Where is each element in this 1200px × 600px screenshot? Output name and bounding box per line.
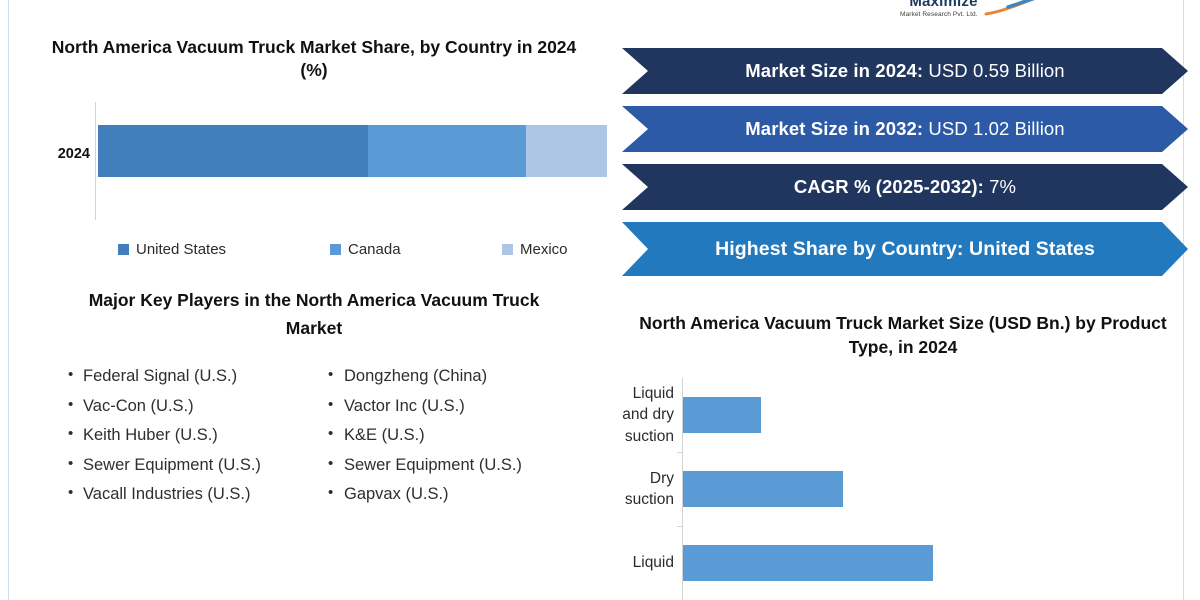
banner-value: 7%: [989, 176, 1016, 197]
list-item: Vactor Inc (U.S.): [328, 392, 614, 422]
market-share-plot-area: 2024: [14, 102, 614, 220]
banner-text: Market Size in 2024: USD 0.59 Billion: [745, 60, 1064, 82]
brand-tagline: Market Research Pvt. Ltd.: [900, 11, 978, 18]
infographic-page: Maximize Market Research Pvt. Ltd. North…: [0, 0, 1200, 600]
list-item: Vacall Industries (U.S.): [68, 480, 314, 510]
market-share-legend: United States Canada Mexico: [14, 236, 614, 262]
key-players-column-2: Dongzheng (China) Vactor Inc (U.S.) K&E …: [314, 362, 614, 510]
legend-swatch-icon: [330, 244, 341, 255]
product-type-chart-title: North America Vacuum Truck Market Size (…: [614, 312, 1192, 359]
brand-logo: Maximize Market Research Pvt. Ltd.: [900, 0, 1150, 18]
product-type-bar: [683, 545, 933, 581]
product-type-row-liquid: Liquid: [614, 526, 1192, 600]
legend-item-united-states: United States: [118, 241, 330, 258]
product-type-bar: [683, 471, 843, 507]
list-item: K&E (U.S.): [328, 421, 614, 451]
market-share-stacked-bar: [98, 125, 607, 177]
key-players-column-1: Federal Signal (U.S.) Vac-Con (U.S.) Kei…: [14, 362, 314, 510]
market-share-y-axis: [95, 102, 96, 220]
product-type-category-label: Liquid: [614, 526, 674, 600]
product-type-row-liquid-and-dry-suction: Liquid and dry suction: [614, 378, 1192, 452]
key-players-section: Major Key Players in the North America V…: [14, 286, 614, 600]
highlight-banners: Market Size in 2024: USD 0.59 Billion Ma…: [622, 48, 1188, 298]
banner-value: USD 1.02 Billion: [928, 118, 1064, 139]
product-type-category-label: Liquid and dry suction: [614, 378, 674, 452]
legend-swatch-icon: [118, 244, 129, 255]
legend-item-canada: Canada: [330, 241, 502, 258]
swoosh-logo-icon: [984, 0, 1040, 18]
legend-swatch-icon: [502, 244, 513, 255]
list-item: Gapvax (U.S.): [328, 480, 614, 510]
legend-label: United States: [136, 241, 226, 258]
market-share-category-label: 2024: [26, 146, 90, 162]
banner-value: USD 0.59 Billion: [928, 60, 1064, 81]
key-players-list: Federal Signal (U.S.) Vac-Con (U.S.) Kei…: [68, 362, 314, 510]
banner-market-size-2024: Market Size in 2024: USD 0.59 Billion: [622, 48, 1188, 94]
bar-segment-canada: [368, 125, 526, 177]
list-item: Sewer Equipment (U.S.): [328, 451, 614, 481]
product-type-bar: [683, 397, 761, 433]
banner-text: Market Size in 2032: USD 1.02 Billion: [745, 118, 1064, 140]
page-border-left: [8, 0, 9, 600]
bar-segment-mexico: [526, 125, 607, 177]
market-share-chart: North America Vacuum Truck Market Share,…: [14, 36, 614, 276]
list-item: Sewer Equipment (U.S.): [68, 451, 314, 481]
banner-text: Highest Share by Country: United States: [715, 238, 1095, 261]
banner-market-size-2032: Market Size in 2032: USD 1.02 Billion: [622, 106, 1188, 152]
legend-item-mexico: Mexico: [502, 241, 568, 258]
product-type-plot-area: Liquid and dry suction Dry suction Liqui…: [614, 374, 1192, 600]
banner-label: Market Size in 2024:: [745, 60, 923, 81]
product-type-row-dry-suction: Dry suction: [614, 452, 1192, 526]
list-item: Keith Huber (U.S.): [68, 421, 314, 451]
banner-cagr: CAGR % (2025-2032): 7%: [622, 164, 1188, 210]
list-item: Vac-Con (U.S.): [68, 392, 314, 422]
bar-segment-united-states: [98, 125, 368, 177]
legend-label: Canada: [348, 241, 401, 258]
banner-label: CAGR % (2025-2032):: [794, 176, 984, 197]
banner-label: Market Size in 2032:: [745, 118, 923, 139]
brand-logo-text: Maximize Market Research Pvt. Ltd.: [900, 0, 978, 18]
banner-label: Highest Share by Country: United States: [715, 238, 1095, 260]
market-share-chart-title: North America Vacuum Truck Market Share,…: [14, 36, 614, 83]
legend-label: Mexico: [520, 241, 568, 258]
banner-highest-share: Highest Share by Country: United States: [622, 222, 1188, 276]
key-players-columns: Federal Signal (U.S.) Vac-Con (U.S.) Kei…: [14, 362, 614, 510]
key-players-list: Dongzheng (China) Vactor Inc (U.S.) K&E …: [328, 362, 614, 510]
product-type-chart: North America Vacuum Truck Market Size (…: [614, 312, 1192, 600]
banner-text: CAGR % (2025-2032): 7%: [794, 176, 1016, 198]
key-players-title: Major Key Players in the North America V…: [14, 286, 614, 343]
list-item: Federal Signal (U.S.): [68, 362, 314, 392]
brand-name: Maximize: [909, 0, 977, 10]
product-type-category-label: Dry suction: [614, 452, 674, 526]
list-item: Dongzheng (China): [328, 362, 614, 392]
